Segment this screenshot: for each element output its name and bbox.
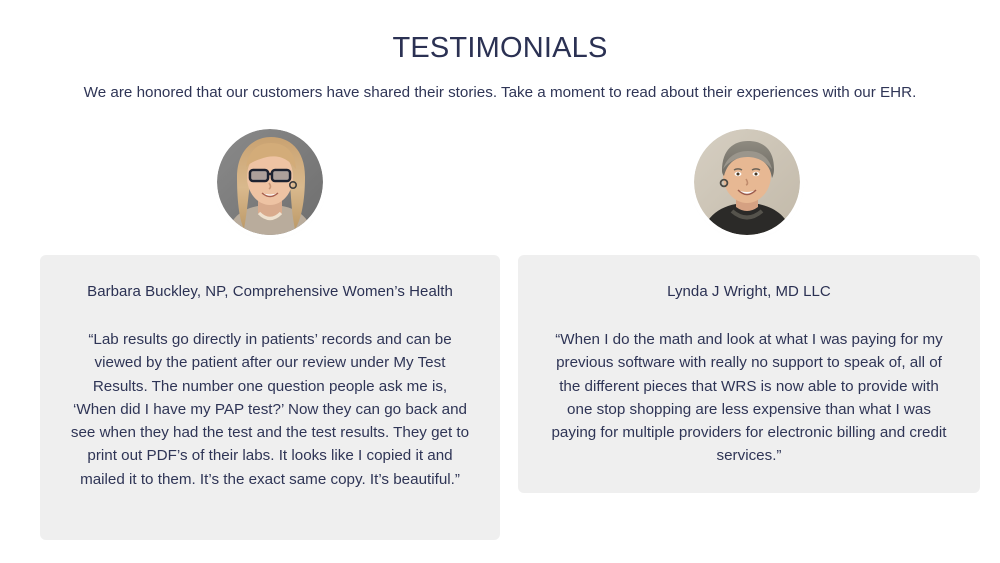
testimonial-card: Barbara Buckley, NP, Comprehensive Women… — [40, 255, 500, 540]
avatar-photo-barbara-buckley-icon — [217, 129, 323, 235]
page-title: TESTIMONIALS — [0, 31, 1000, 65]
section-subtitle: We are honored that our customers have s… — [0, 82, 1000, 103]
testimonial-quote: “Lab results go directly in patients’ re… — [66, 328, 474, 491]
avatar — [694, 129, 800, 235]
testimonial-quote: “When I do the math and look at what I w… — [544, 328, 954, 468]
avatar — [217, 129, 323, 235]
testimonial-author-name: Lynda J Wright, MD LLC — [544, 281, 954, 302]
testimonials-section: TESTIMONIALS We are honored that our cus… — [0, 0, 1000, 563]
avatar-photo-lynda-wright-icon — [694, 129, 800, 235]
testimonial-author-name: Barbara Buckley, NP, Comprehensive Women… — [66, 281, 474, 302]
testimonial-card: Lynda J Wright, MD LLC “When I do the ma… — [518, 255, 980, 493]
